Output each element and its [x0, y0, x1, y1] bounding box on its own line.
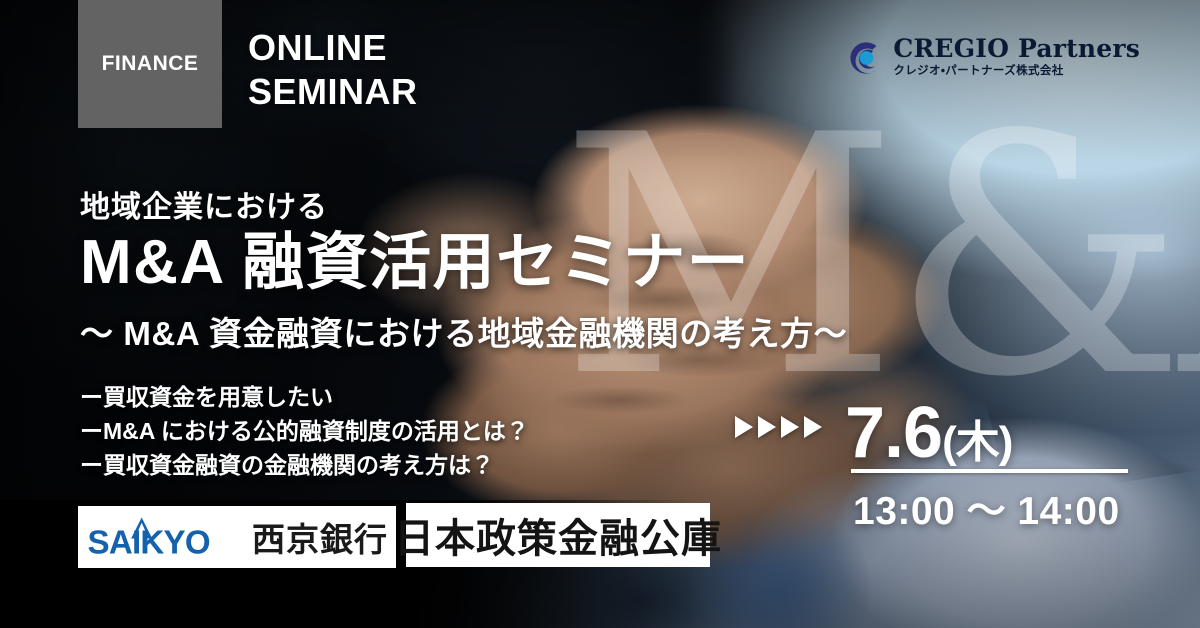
company-name: CREGIO Partners — [893, 36, 1140, 62]
company-logo-text: CREGIO Partners クレジオ・パートナーズ株式会社 — [893, 36, 1140, 79]
company-logo: CREGIO Partners クレジオ・パートナーズ株式会社 — [845, 36, 1140, 79]
sponsor-logo-saikyo-bank: SAIKYO 西京銀行 — [78, 506, 396, 568]
seminar-title: M&A 融資活用セミナー — [80, 228, 847, 297]
topic-item: ー買収資金を用意したい — [80, 381, 529, 415]
jfc-name-ja: 日本政策金融公庫 — [394, 506, 722, 564]
topic-item: ー買収資金融資の金融機関の考え方は？ — [80, 449, 529, 483]
saikyo-logo-icon: SAIKYO — [86, 514, 244, 560]
triangle-right-icon — [735, 416, 753, 438]
seminar-subtitle: 〜 M&A 資金融資における地域金融機関の考え方〜 — [80, 307, 847, 355]
cregio-swirl-icon — [845, 39, 883, 77]
category-badge-label: FINANCE — [102, 52, 199, 76]
topic-item: ーM&A における公的融資制度の活用とは？ — [80, 415, 529, 449]
event-type-line-1: ONLINE — [248, 26, 418, 70]
triangle-right-icon — [758, 416, 776, 438]
event-date: 7.6(木) — [845, 392, 1012, 474]
seminar-banner: M&A FINANCE ONLINE SEMINAR CREGIO Partne… — [0, 0, 1200, 628]
svg-text:SAIKYO: SAIKYO — [88, 525, 210, 560]
event-time: 13:00 〜 14:00 — [853, 480, 1120, 536]
event-type-line-2: SEMINAR — [248, 70, 418, 114]
schedule-divider — [851, 469, 1128, 473]
saikyo-bank-name-ja: 西京銀行 — [252, 513, 388, 561]
event-type: ONLINE SEMINAR — [248, 26, 418, 114]
company-name-ja: クレジオ・パートナーズ株式会社 — [893, 64, 1140, 79]
event-date-weekday: (木) — [942, 418, 1012, 467]
event-date-number: 7.6 — [845, 393, 942, 473]
topic-list: ー買収資金を用意したい ーM&A における公的融資制度の活用とは？ ー買収資金融… — [80, 381, 529, 482]
sponsor-logo-japan-finance-corporation: 日本政策金融公庫 — [406, 503, 710, 567]
triangle-right-icon — [804, 416, 822, 438]
headline-block: 地域企業における M&A 融資活用セミナー 〜 M&A 資金融資における地域金融… — [80, 182, 847, 355]
triangle-right-icon — [781, 416, 799, 438]
arrow-group — [735, 416, 822, 438]
category-badge: FINANCE — [78, 0, 222, 128]
headline-eyebrow: 地域企業における — [80, 182, 847, 226]
